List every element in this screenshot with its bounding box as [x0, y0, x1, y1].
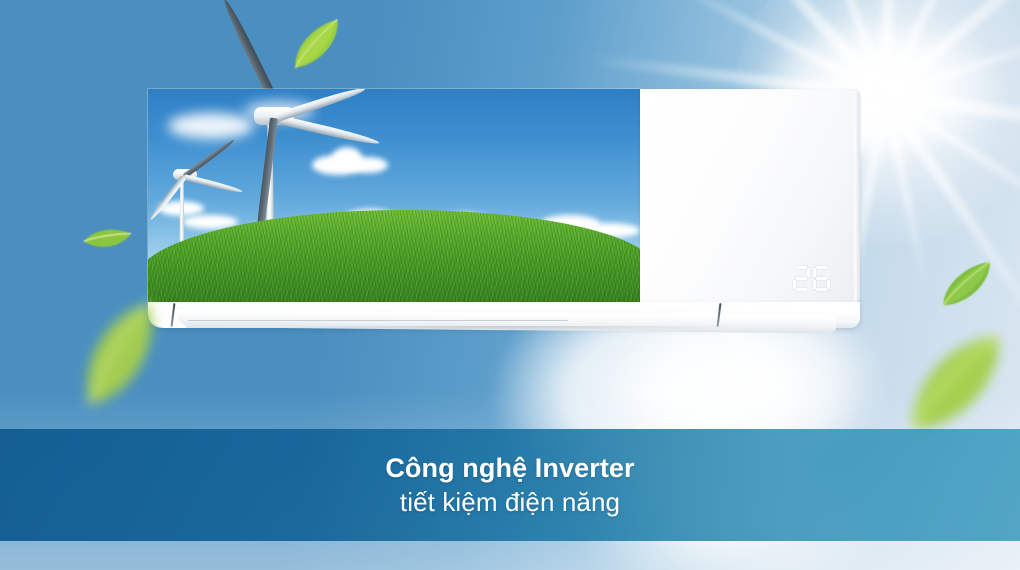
- ac-display-value: 26: [811, 278, 812, 279]
- caption-banner: Công nghệ Inverter tiết kiệm điện năng: [0, 429, 1020, 541]
- ac-body-seam: [188, 320, 568, 321]
- caption-line-1: Công nghệ Inverter: [385, 452, 634, 485]
- ac-display-digit: [793, 266, 810, 291]
- ac-temperature-display: 26: [788, 265, 834, 291]
- scene-canvas: 26: [0, 0, 1020, 570]
- ac-drop-shadow: [184, 326, 824, 335]
- ac-display-digit: [813, 266, 830, 291]
- caption-banner-inner: Công nghệ Inverter tiết kiệm điện năng: [0, 429, 1020, 541]
- air-conditioner-unit: 26: [148, 89, 860, 327]
- caption-line-2: tiết kiệm điện năng: [400, 487, 620, 519]
- ac-panel-right-edge: [854, 91, 860, 302]
